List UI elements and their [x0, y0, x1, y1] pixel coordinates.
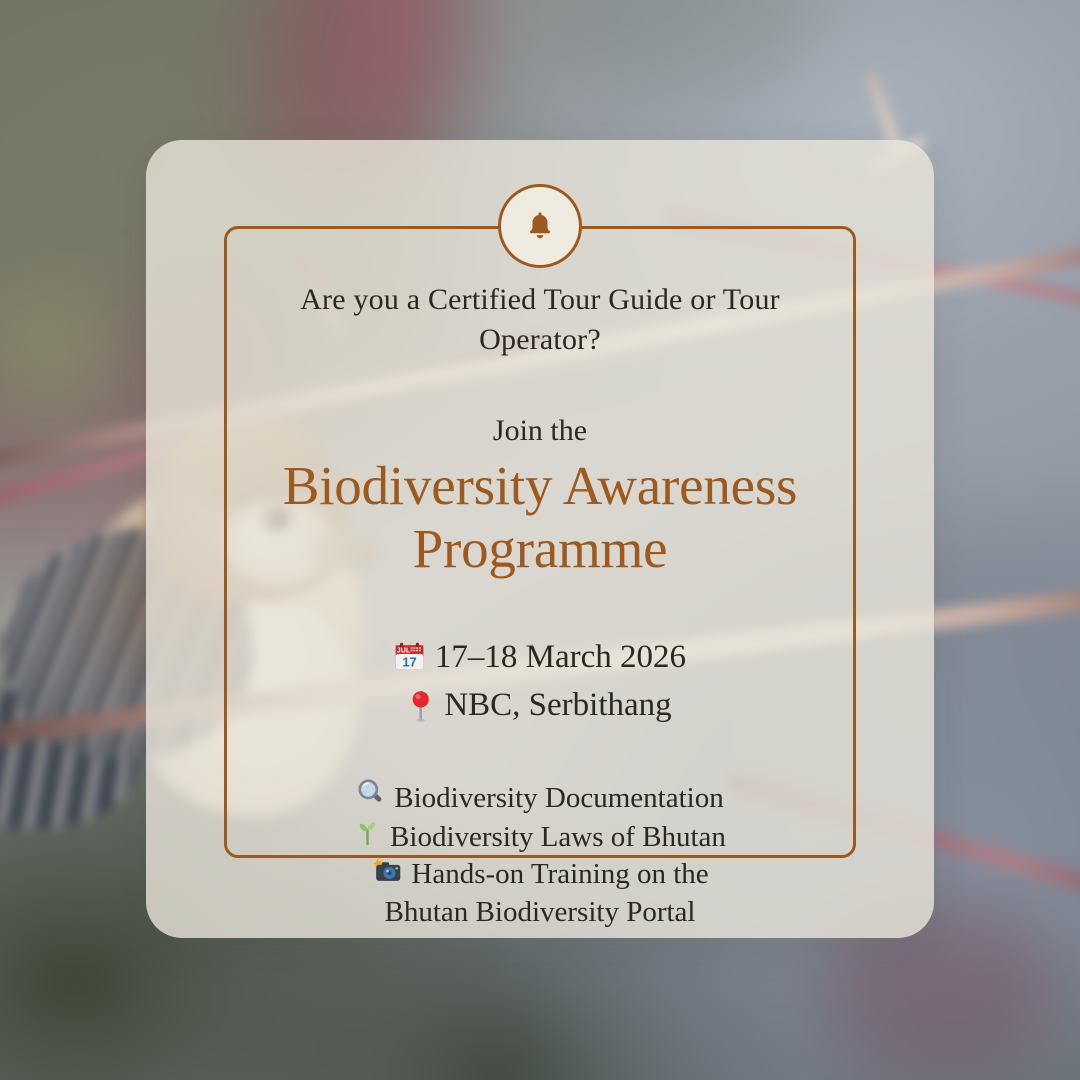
- event-location-text: NBC, Serbithang: [444, 681, 671, 730]
- eyebrow-question: Are you a Certified Tour Guide or Tour O…: [260, 280, 820, 359]
- event-date-row: JUL 17 17–18 March 2026: [242, 633, 838, 682]
- topic-item: Biodiversity Documentation: [242, 778, 838, 817]
- headline-line-2: Programme: [242, 518, 838, 581]
- svg-text:17: 17: [402, 655, 416, 670]
- magnifying-glass-icon: [356, 778, 385, 807]
- topic-item: Biodiversity Laws of Bhutan: [242, 817, 838, 856]
- calendar-icon: JUL 17: [394, 641, 425, 672]
- topics-list: Biodiversity Documentation Biodiversity …: [242, 778, 838, 930]
- topic-text: Biodiversity Laws of Bhutan: [390, 819, 726, 856]
- card-content: Are you a Certified Tour Guide or Tour O…: [242, 280, 838, 931]
- event-date-text: 17–18 March 2026: [435, 633, 686, 682]
- location-pin-icon: [408, 690, 434, 722]
- seedling-icon: [354, 817, 381, 846]
- svg-text:JUL: JUL: [397, 646, 411, 655]
- poster-card: Are you a Certified Tour Guide or Tour O…: [146, 140, 934, 938]
- topic-item: Hands-on Training on the: [242, 856, 838, 893]
- camera-flash-icon: [371, 856, 402, 883]
- topic-text: Biodiversity Documentation: [394, 780, 723, 817]
- join-label: Join the: [242, 413, 838, 449]
- bell-badge: [498, 184, 582, 268]
- bell-icon: [523, 209, 557, 243]
- headline-line-1: Biodiversity Awareness: [242, 455, 838, 518]
- headline: Biodiversity Awareness Programme: [242, 455, 838, 580]
- event-poster: Are you a Certified Tour Guide or Tour O…: [0, 0, 1080, 1080]
- headline-block: Join the Biodiversity Awareness Programm…: [242, 413, 838, 580]
- topic-text: Hands-on Training on the: [411, 856, 708, 893]
- topic-text-continuation: Bhutan Biodiversity Portal: [242, 894, 838, 931]
- event-meta: JUL 17 17–18 March 2026: [242, 633, 838, 731]
- event-location-row: NBC, Serbithang: [242, 681, 838, 730]
